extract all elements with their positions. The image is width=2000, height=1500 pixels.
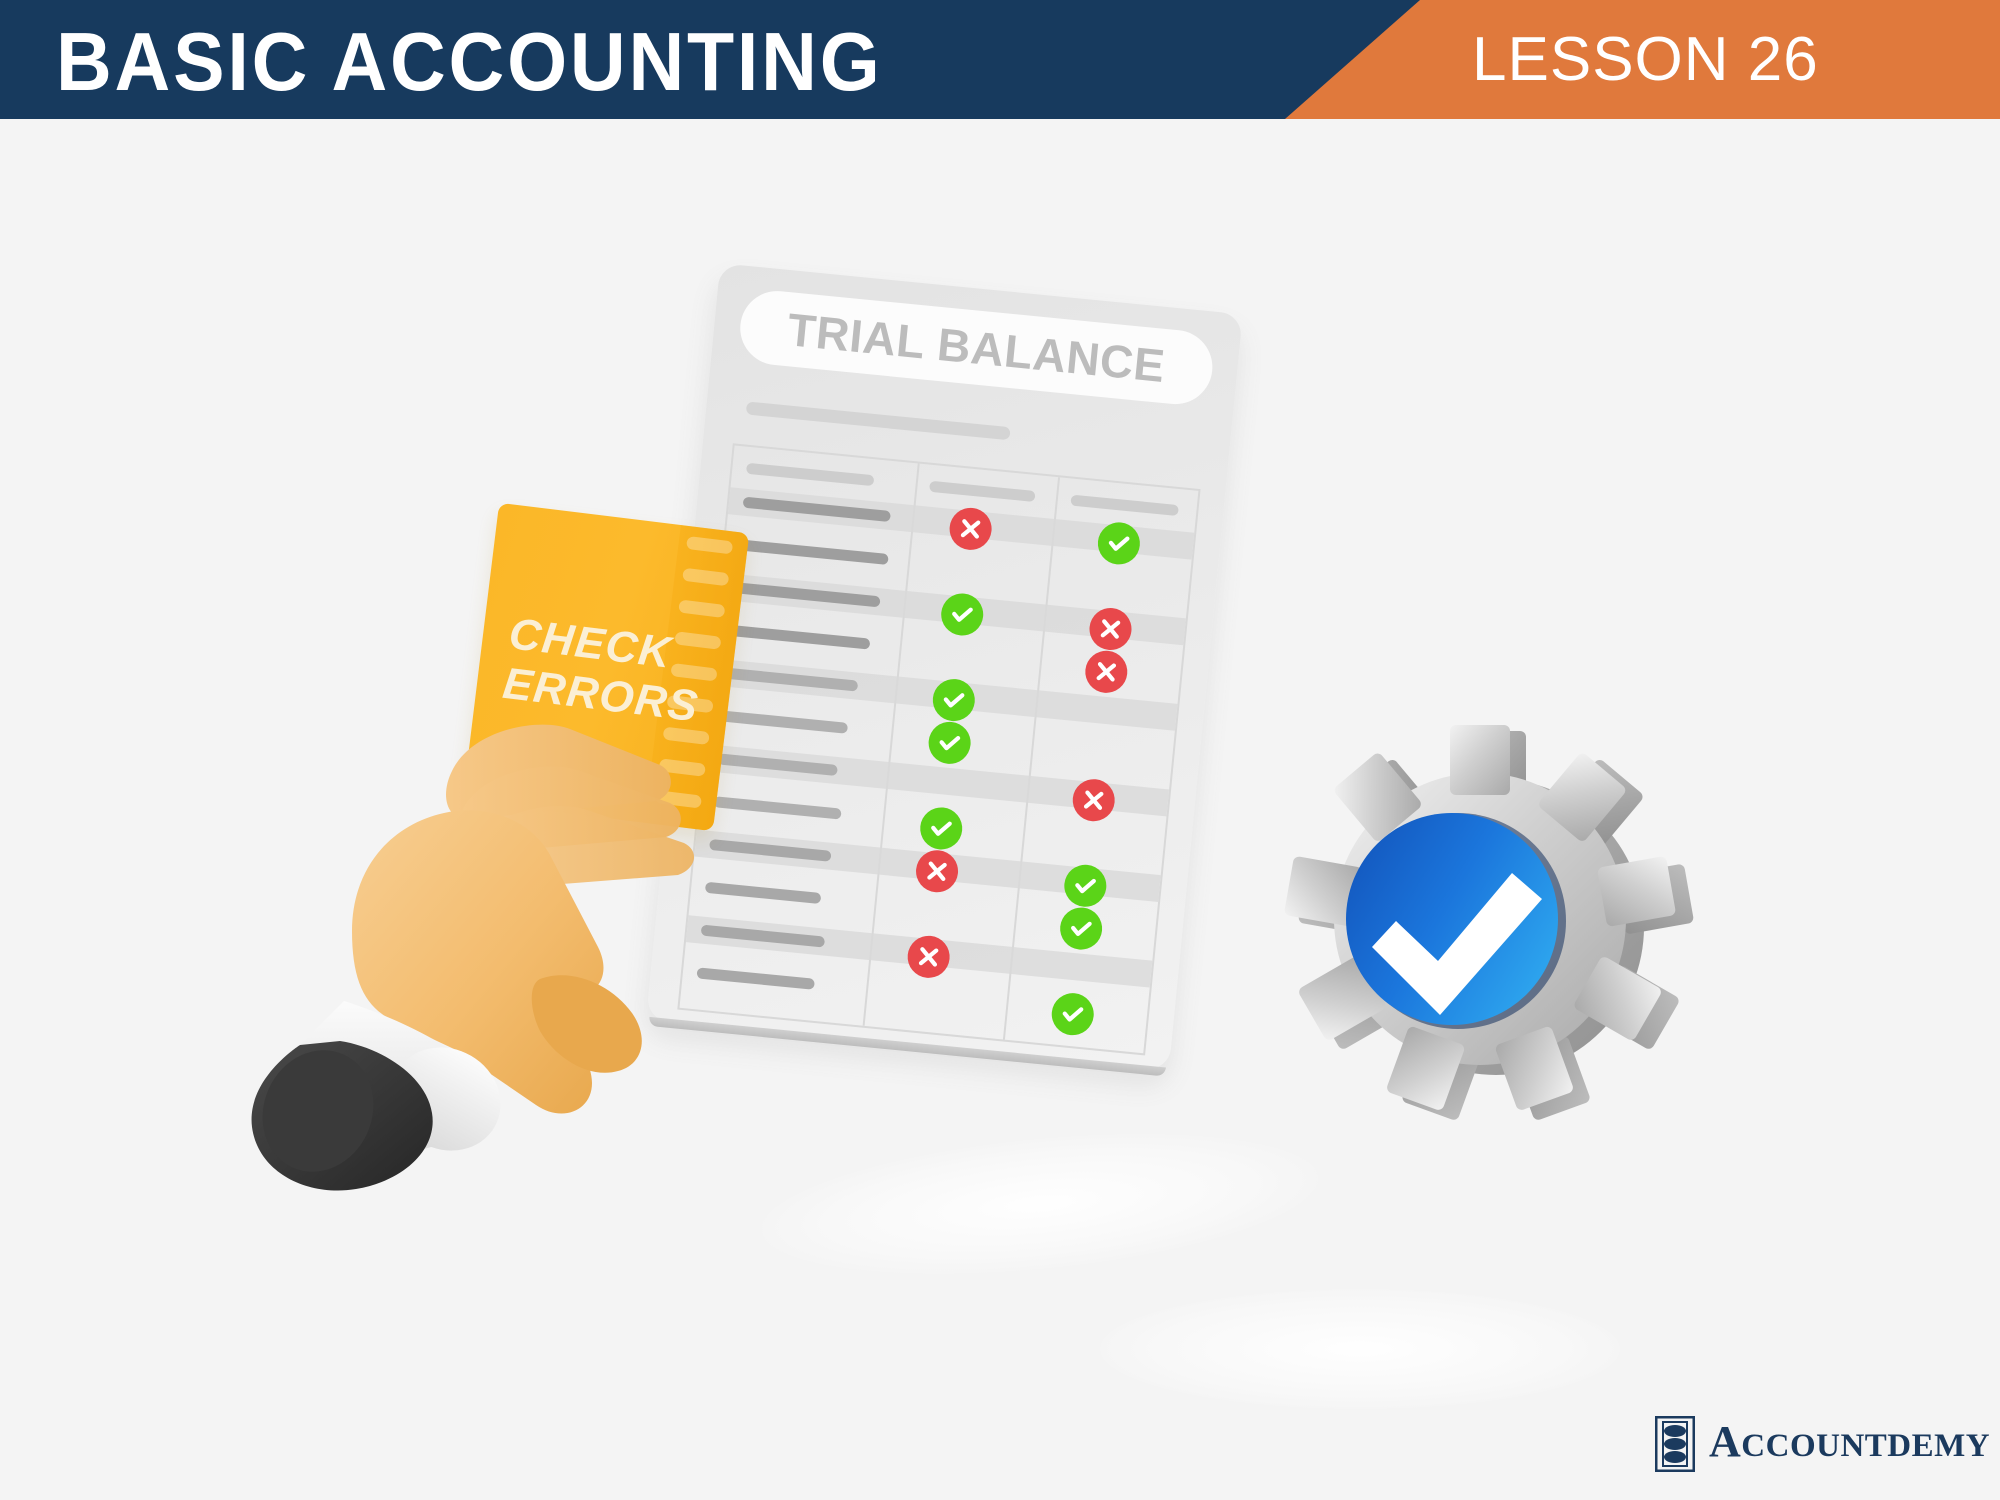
table-row-label-placeholder <box>705 882 822 904</box>
cross-icon <box>1083 649 1129 695</box>
trial-balance-document: TRIAL BALANCE <box>646 263 1243 1071</box>
trial-balance-table <box>677 443 1200 1055</box>
gear-check-badge <box>1280 719 1700 1139</box>
header-banner: BASIC ACCOUNTING LESSON 26 <box>0 0 2000 119</box>
lesson-badge-label: LESSON 26 <box>1472 10 1819 110</box>
check-icon <box>1050 991 1096 1037</box>
check-icon <box>927 720 973 766</box>
table-row-label-placeholder <box>730 625 870 650</box>
card-edge-tick <box>686 536 733 555</box>
gear-drop-shadow <box>1100 1289 1620 1409</box>
column-header-placeholder <box>1070 495 1179 516</box>
column-header-placeholder <box>746 463 874 486</box>
card-edge-tick <box>682 568 729 587</box>
table-row-label-placeholder <box>738 539 888 565</box>
hand-illustration <box>240 679 720 1199</box>
abacus-icon <box>1655 1416 1695 1472</box>
column-header-placeholder <box>929 481 1036 502</box>
card-edge-tick <box>678 599 725 618</box>
check-icon <box>918 806 964 852</box>
logo-wordmark: ACCOUNTDEMY <box>1709 1419 1990 1469</box>
table-row-label-placeholder <box>722 711 848 734</box>
illustration-stage: TRIAL BALANCE CHECK ERRORS <box>0 119 2000 1500</box>
table-row-label-placeholder <box>713 796 841 819</box>
check-icon <box>1058 906 1104 952</box>
document-drop-shadow <box>755 1112 1325 1295</box>
logo-first-letter: A <box>1709 1417 1741 1466</box>
page-title: BASIC ACCOUNTING <box>56 8 883 116</box>
accountdemy-logo[interactable]: ACCOUNTDEMY <box>1655 1413 1990 1475</box>
logo-rest: CCOUNTDEMY <box>1741 1428 1990 1464</box>
